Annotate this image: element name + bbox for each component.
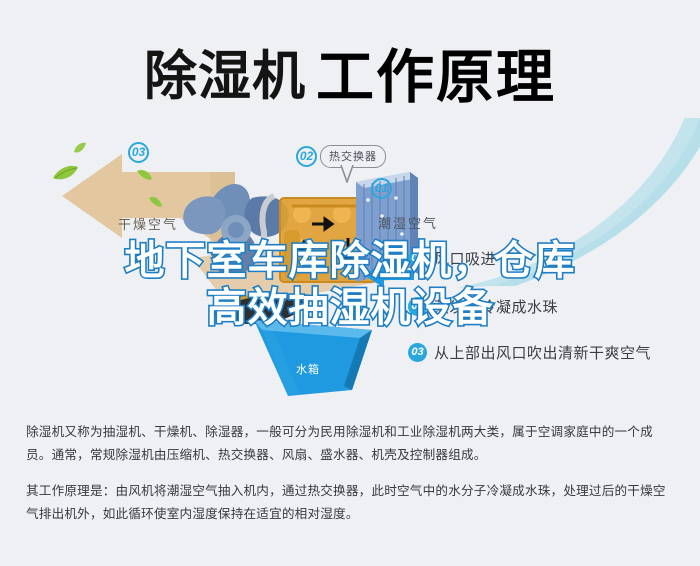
title-primary: 除湿机 (144, 47, 306, 106)
step-text: 风口吸进 (434, 248, 496, 269)
header-banner: 除湿机工作原理 (0, 0, 700, 120)
step-number-badge: 02 (408, 297, 427, 316)
label-water-tank: 水箱 (296, 361, 320, 377)
step-badge-03-diagram: 03 (128, 142, 149, 163)
page-title: 除湿机工作原理 (0, 30, 700, 114)
leaf-icon (136, 168, 153, 182)
infographic-page: 除湿机工作原理 03 干燥空气 (0, 0, 700, 566)
title-secondary: 工作原理 (316, 45, 556, 110)
humid-air-flow-arc-icon (395, 118, 700, 308)
leaf-icon (52, 165, 79, 182)
step-badge-01-diagram: 01 (371, 178, 392, 199)
step-text: 蒸发器冷凝成水珠 (434, 296, 558, 317)
step-list-item-01: 01 风口吸进 (408, 248, 496, 269)
step-badge-02-diagram: 02 (296, 146, 317, 167)
working-principle-diagram: 03 干燥空气 (0, 118, 700, 403)
water-tank-icon (248, 316, 378, 401)
label-humid-air: 潮湿空气 (378, 213, 438, 232)
step-number-badge: 03 (408, 343, 427, 362)
body-copy: 除湿机又称为抽湿机、干燥机、除湿器，一般可分为民用除湿机和工业除湿机两大类，属于… (0, 403, 700, 566)
step-list-item-02: 02 蒸发器冷凝成水珠 (408, 296, 558, 317)
callout-pointer-icon (339, 165, 355, 183)
paragraph-definition: 除湿机又称为抽湿机、干燥机、除湿器，一般可分为民用除湿机和工业除湿机两大类，属于… (26, 421, 674, 467)
step-number-badge: 01 (408, 249, 427, 268)
step-text: 从上部出风口吹出清新干爽空气 (434, 342, 651, 363)
paragraph-principle: 其工作原理是：由风机将潮湿空气抽入机内，通过热交换器，此时空气中的水分子冷凝成水… (26, 480, 674, 526)
leaf-icon (73, 142, 87, 154)
step-list-item-03: 03 从上部出风口吹出清新干爽空气 (408, 342, 651, 363)
